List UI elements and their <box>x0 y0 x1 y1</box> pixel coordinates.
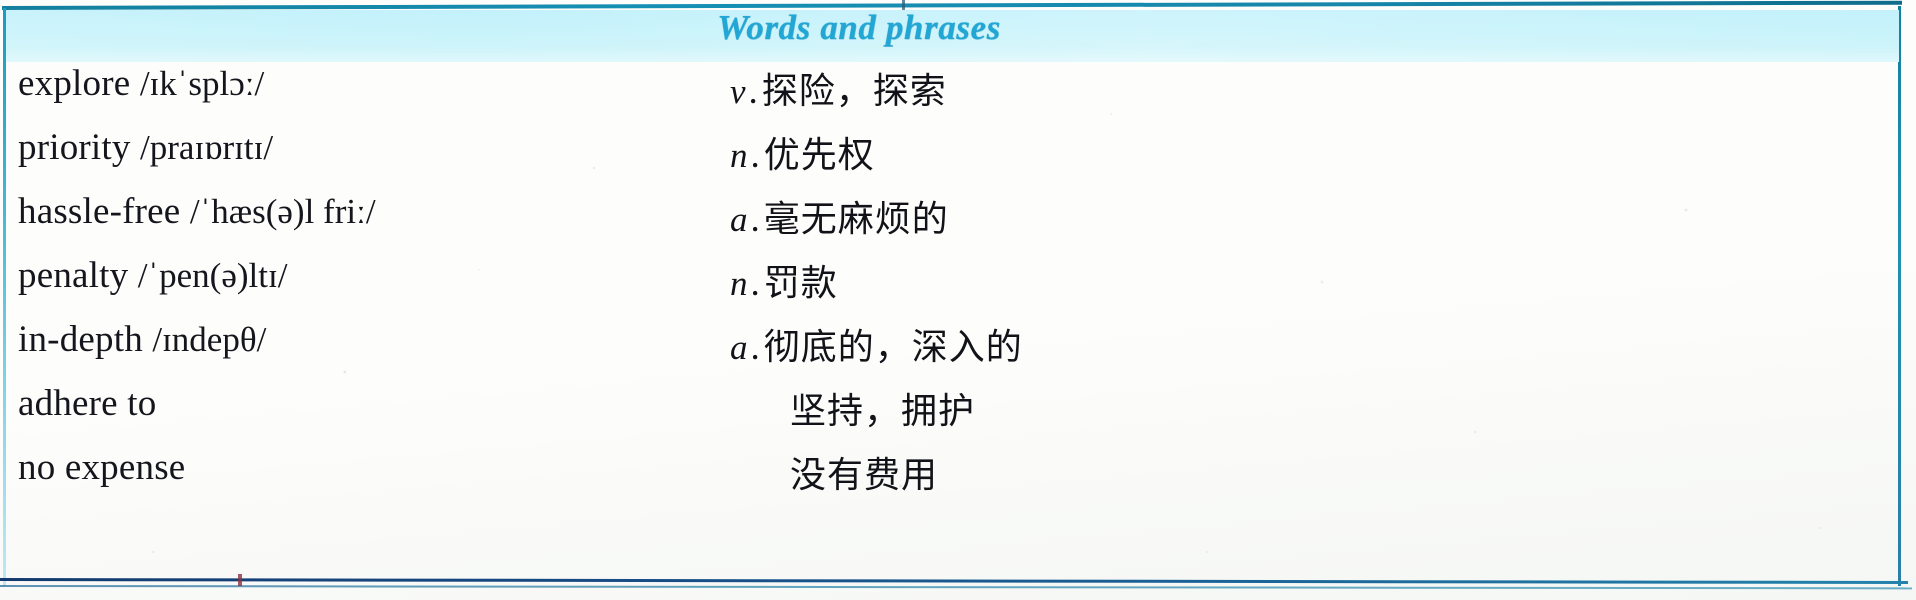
part-of-speech-dot: . <box>751 135 764 176</box>
term-ipa: /ˈpen(ə)ltɪ/ <box>138 256 288 295</box>
part-of-speech-dot: . <box>749 71 762 112</box>
part-of-speech-dot: . <box>751 263 764 304</box>
bottom-edge-mark <box>238 574 242 586</box>
list-item: hassle-free /ˈhæs(ə)l friː/ a.毫无麻烦的 <box>0 190 1916 254</box>
term-entry: adhere to <box>18 382 156 425</box>
table-bottom-border-secondary <box>0 585 1912 589</box>
gloss-entry: n.罚款 <box>730 254 838 306</box>
gloss-entry: 没有费用 <box>790 446 938 498</box>
gloss-entry: n.优先权 <box>730 126 875 178</box>
table-bottom-border <box>0 578 1908 584</box>
term-word: hassle-free <box>18 191 180 232</box>
term-ipa: /ɪkˈsplɔː/ <box>140 64 264 103</box>
chinese-meaning: 优先权 <box>764 135 875 175</box>
chinese-meaning: 没有费用 <box>790 455 938 495</box>
term-entry: no expense <box>18 446 185 489</box>
part-of-speech-dot: . <box>751 327 764 368</box>
gloss-entry: v.探险，探索 <box>730 62 947 114</box>
term-word: explore <box>18 63 130 104</box>
term-ipa: /ˈhæs(ə)l friː/ <box>190 192 376 231</box>
page-title: Words and phrases <box>0 8 1893 48</box>
part-of-speech: a <box>730 200 751 239</box>
term-entry: priority /praɪɒrɪtɪ/ <box>18 126 273 169</box>
term-entry: explore /ɪkˈsplɔː/ <box>18 62 264 105</box>
vocabulary-list: explore /ɪkˈsplɔː/ v.探险，探索 priority /pra… <box>0 62 1916 510</box>
part-of-speech-dot: . <box>751 199 764 240</box>
term-word: in-depth <box>18 319 143 360</box>
list-item: explore /ɪkˈsplɔː/ v.探险，探索 <box>0 62 1916 126</box>
list-item: priority /praɪɒrɪtɪ/ n.优先权 <box>0 126 1916 190</box>
list-item: adhere to 坚持，拥护 <box>0 382 1916 446</box>
term-word: priority <box>18 127 131 168</box>
gloss-entry: a.毫无麻烦的 <box>730 190 949 242</box>
term-entry: hassle-free /ˈhæs(ə)l friː/ <box>18 190 376 233</box>
list-item: in-depth /ɪndepθ/ a.彻底的，深入的 <box>0 318 1916 382</box>
part-of-speech: n <box>730 264 751 303</box>
term-word: no expense <box>18 447 185 488</box>
part-of-speech: v <box>730 72 749 111</box>
term-entry: in-depth /ɪndepθ/ <box>18 318 266 361</box>
chinese-meaning: 探险，探索 <box>762 71 947 111</box>
part-of-speech: a <box>730 328 751 367</box>
chinese-meaning: 坚持，拥护 <box>790 391 975 431</box>
gloss-entry: a.彻底的，深入的 <box>730 318 1023 370</box>
chinese-meaning: 彻底的，深入的 <box>764 327 1023 367</box>
term-word: penalty <box>18 255 128 296</box>
term-ipa: /ɪndepθ/ <box>152 320 266 359</box>
term-entry: penalty /ˈpen(ə)ltɪ/ <box>18 254 287 297</box>
list-item: penalty /ˈpen(ə)ltɪ/ n.罚款 <box>0 254 1916 318</box>
term-ipa: /praɪɒrɪtɪ/ <box>140 128 273 167</box>
vocabulary-table-page: Words and phrases explore /ɪkˈsplɔː/ v.探… <box>0 0 1916 600</box>
list-item: no expense 没有费用 <box>0 446 1916 510</box>
chinese-meaning: 毫无麻烦的 <box>764 199 949 239</box>
term-word: adhere to <box>18 383 156 424</box>
gloss-entry: 坚持，拥护 <box>790 382 975 434</box>
part-of-speech: n <box>730 136 751 175</box>
chinese-meaning: 罚款 <box>764 263 838 303</box>
